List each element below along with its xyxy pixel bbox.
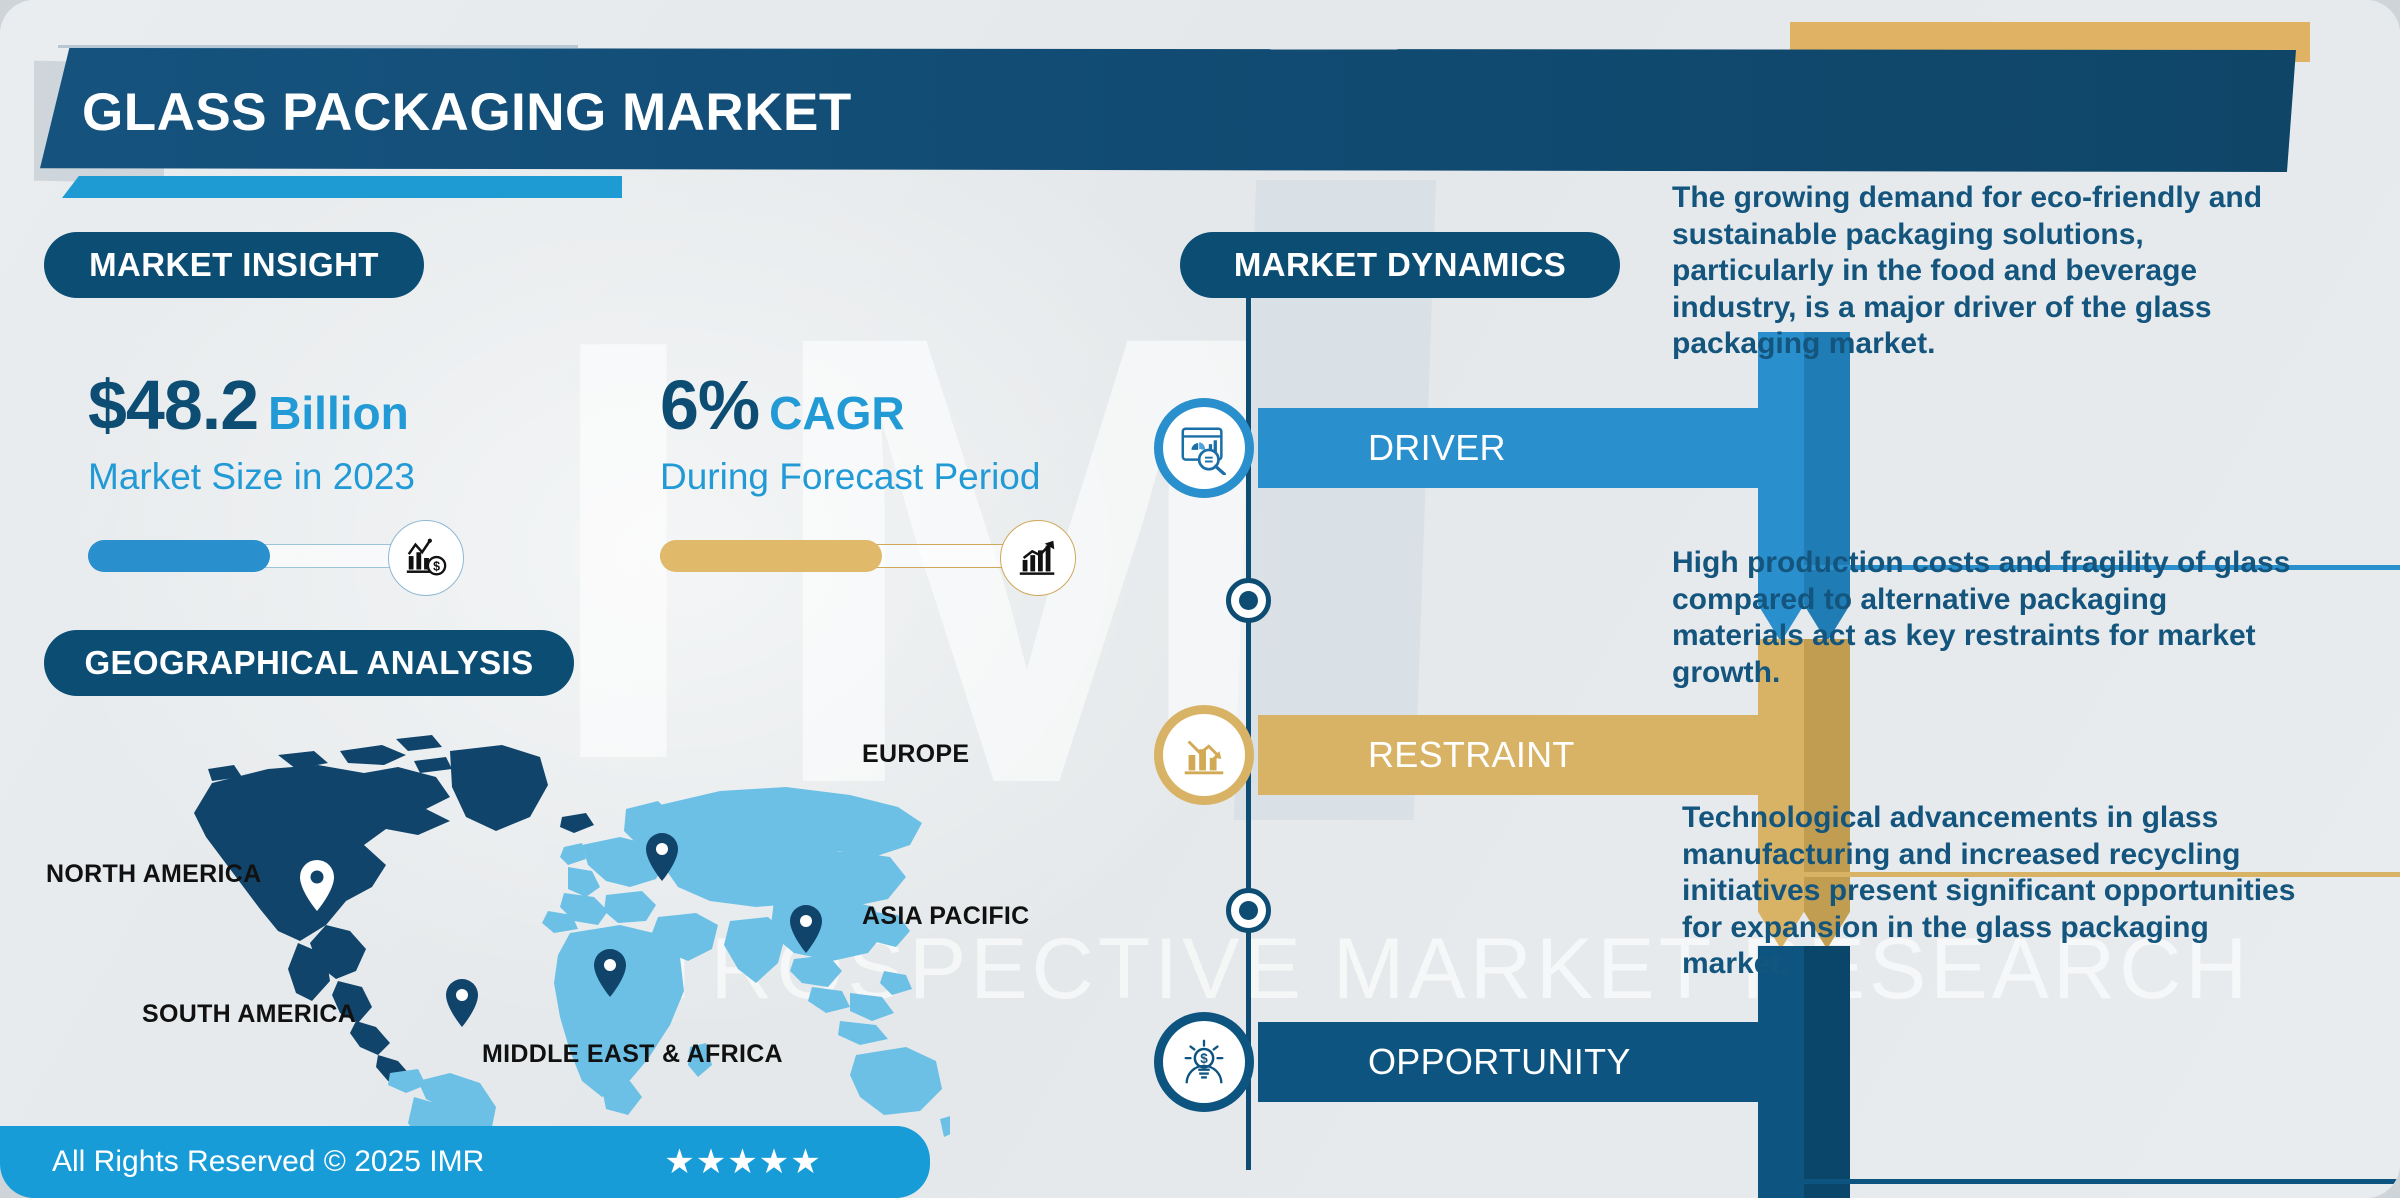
opportunity-banner[interactable]: OPPORTUNITY [1258, 1022, 1758, 1102]
market-dynamics-heading: MARKET DYNAMICS [1180, 232, 1620, 298]
declining-chart-icon [1154, 705, 1254, 805]
market-insight-heading: MARKET INSIGHT [44, 232, 424, 298]
map-label-asia-pacific: ASIA PACIFIC [862, 902, 1030, 931]
opportunity-ribbon-arrow [1758, 946, 1850, 1198]
opportunity-description: Technological advancements in glass manu… [1682, 800, 2302, 983]
cagr-unit: CAGR [769, 387, 904, 439]
chart-search-icon [1154, 398, 1254, 498]
bar-chart-dollar-icon: $ [388, 520, 464, 596]
cagr-value: 6% [660, 366, 759, 444]
cagr-caption: During Forecast Period [660, 456, 1130, 498]
stat-cagr: 6%CAGR During Forecast Period [660, 370, 1130, 586]
restraint-label: RESTRAINT [1368, 734, 1575, 776]
driver-label: DRIVER [1368, 427, 1506, 469]
rating-stars: ★★★★★ [664, 1142, 821, 1182]
cagr-bar-fill [660, 540, 882, 572]
map-label-middle-east-africa: MIDDLE EAST & AFRICA [482, 1040, 783, 1069]
header-thin-rule [58, 45, 578, 48]
timeline-node-2 [1226, 888, 1271, 933]
growth-chart-arrow-icon [1000, 520, 1076, 596]
map-region-north-america [194, 735, 594, 1089]
svg-text:$: $ [433, 559, 440, 573]
restraint-description: High production costs and fragility of g… [1672, 545, 2292, 691]
world-map [150, 725, 950, 1145]
header-underline-accent [62, 176, 622, 198]
stat-market-size: $48.2Billion Market Size in 2023 $ [88, 370, 488, 586]
opportunity-label: OPPORTUNITY [1368, 1041, 1631, 1083]
market-size-value: $48.2 [88, 366, 258, 444]
footer-bar: All Rights Reserved © 2025 IMR ★★★★★ [0, 1126, 930, 1198]
market-size-progress: $ [88, 526, 488, 586]
lightbulb-dollar-icon: $ [1154, 1012, 1254, 1112]
driver-banner[interactable]: DRIVER [1258, 408, 1758, 488]
infographic-canvas: I M INTROSPECTIVE MARKET RESEARCH GLASS … [0, 0, 2400, 1198]
market-size-unit: Billion [268, 387, 409, 439]
map-pin-south-america [446, 979, 478, 1027]
map-label-south-america: SOUTH AMERICA [142, 1000, 356, 1029]
map-label-europe: EUROPE [862, 740, 969, 769]
market-size-bar-fill [88, 540, 270, 572]
page-title: GLASS PACKAGING MARKET [82, 82, 852, 143]
svg-text:$: $ [1200, 1051, 1208, 1066]
cagr-progress [660, 526, 1130, 586]
geographical-analysis-heading: GEOGRAPHICAL ANALYSIS [44, 630, 574, 696]
timeline-node-1 [1226, 578, 1271, 623]
map-label-north-america: NORTH AMERICA [46, 860, 261, 889]
driver-description: The growing demand for eco-friendly and … [1672, 180, 2292, 363]
restraint-banner[interactable]: RESTRAINT [1258, 715, 1758, 795]
opportunity-connector-line [1760, 1179, 2400, 1184]
copyright-text: All Rights Reserved © 2025 IMR [52, 1145, 484, 1179]
market-size-caption: Market Size in 2023 [88, 456, 488, 498]
